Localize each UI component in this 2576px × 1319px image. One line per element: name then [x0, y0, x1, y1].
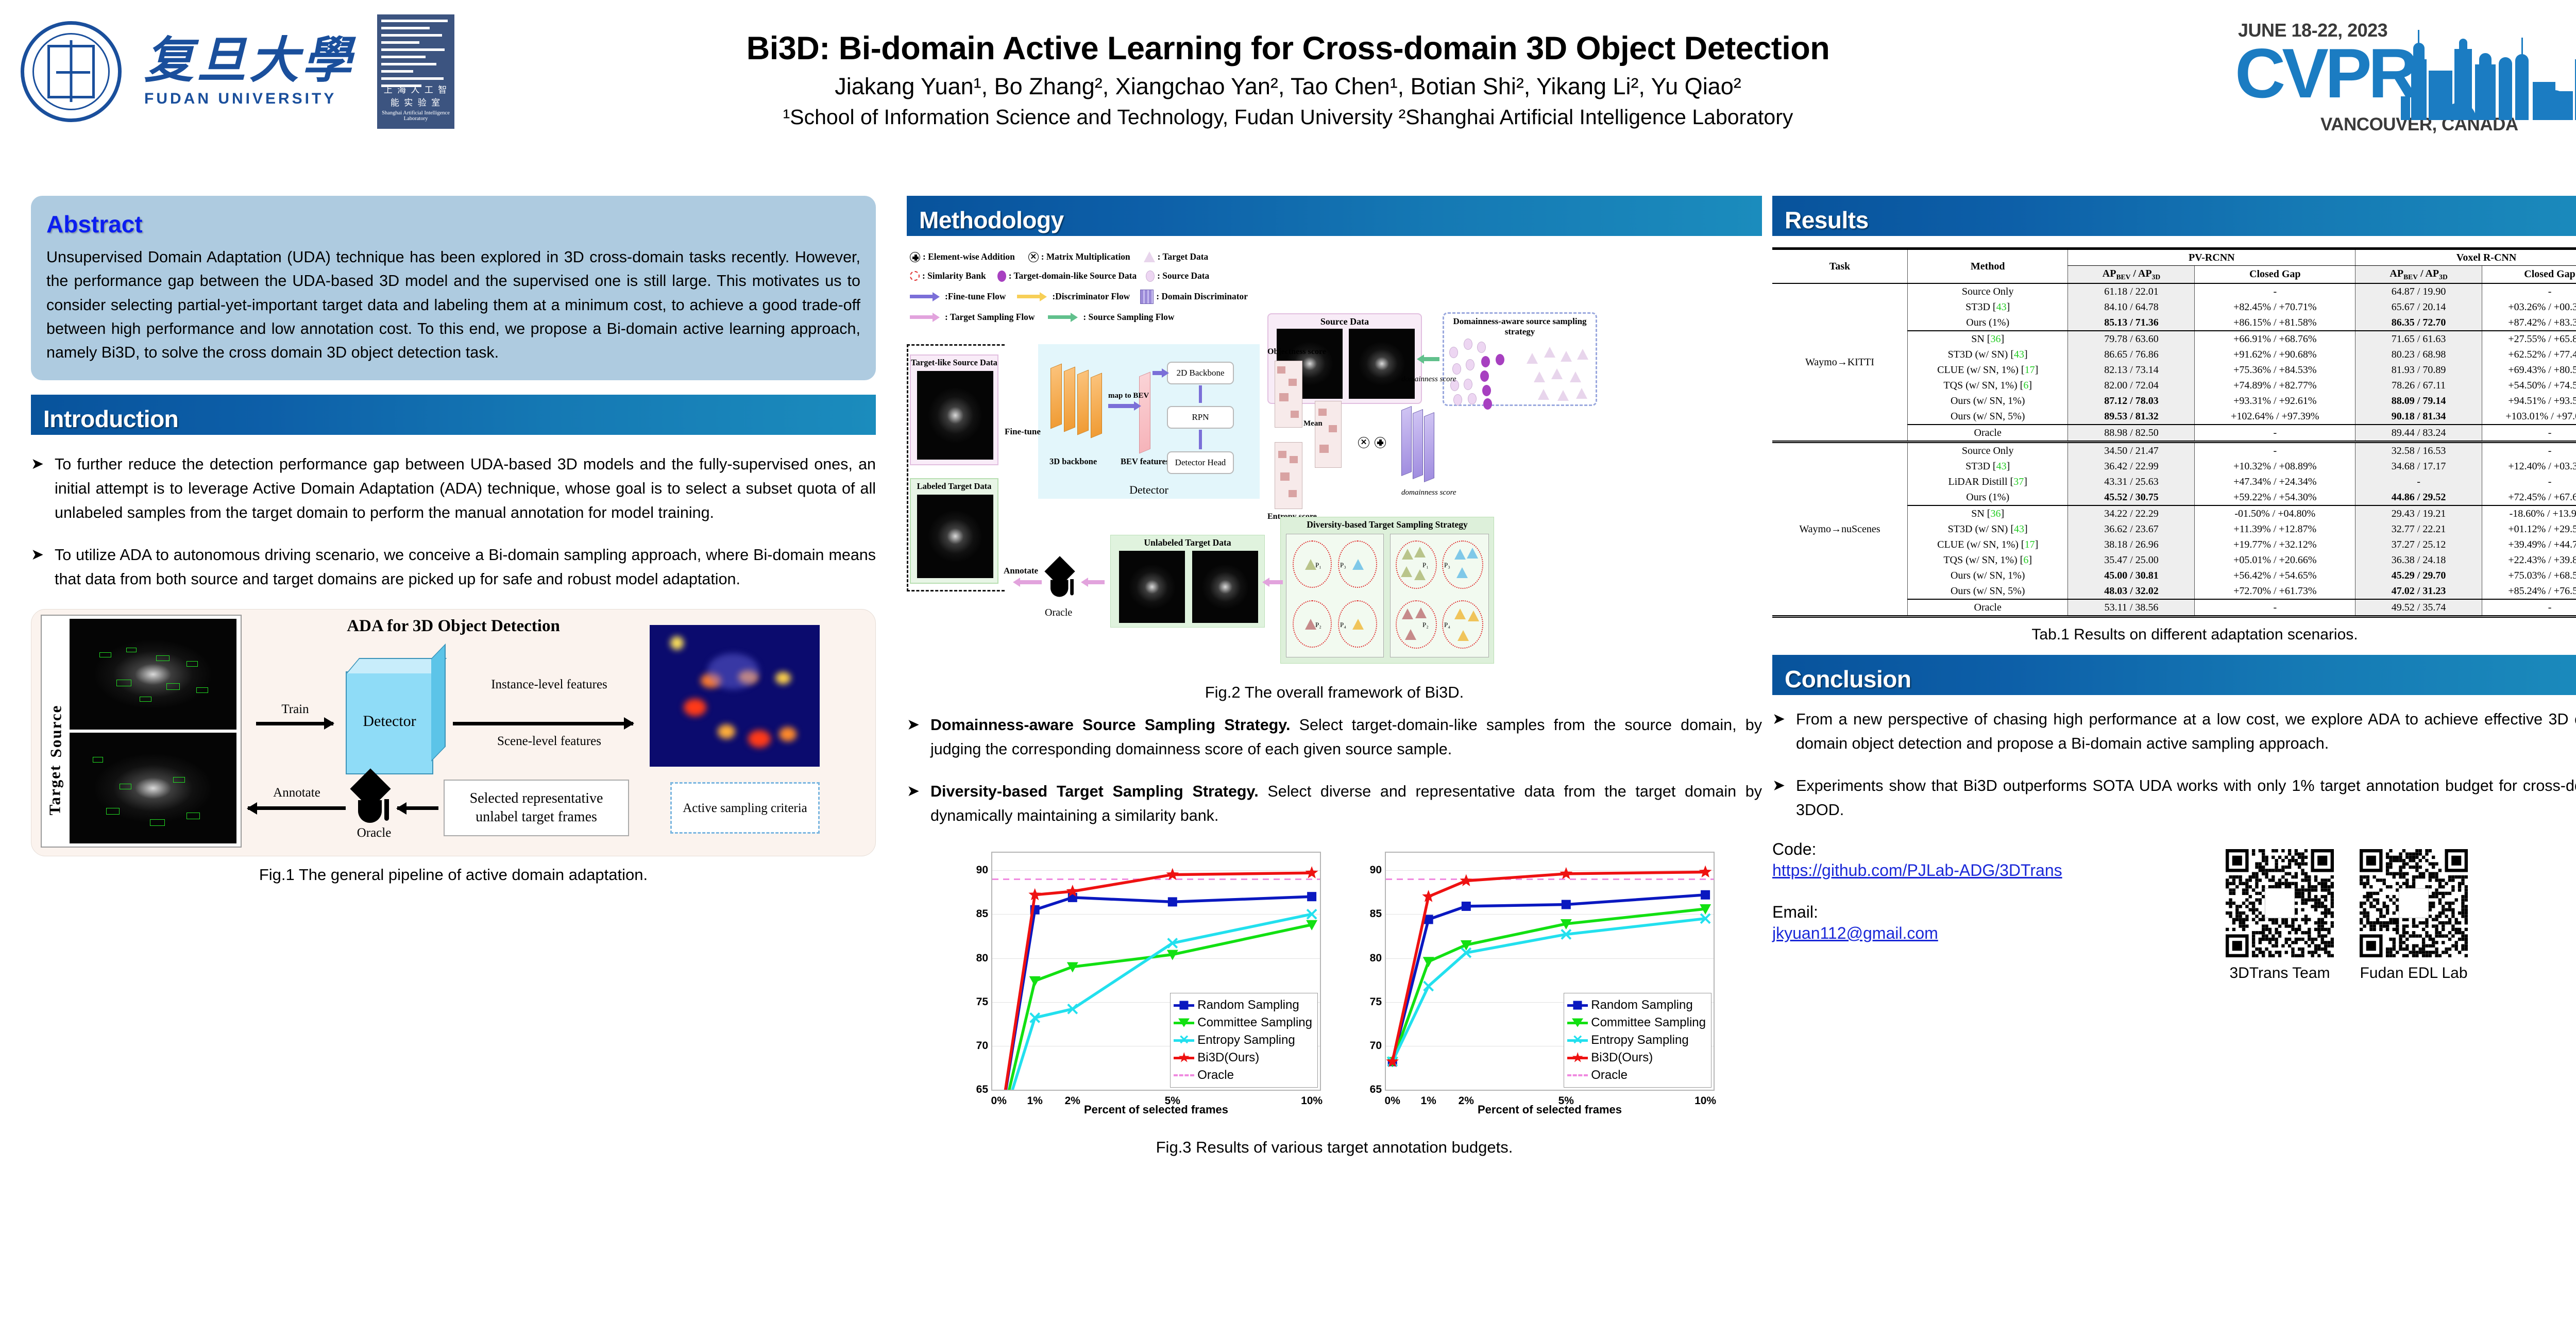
legend-item: Random Sampling	[1174, 996, 1312, 1014]
fig2-source-dots	[1448, 339, 1520, 404]
legend-label: Random Sampling	[1591, 998, 1692, 1012]
fig1-instance-label: Instance-level features	[485, 677, 614, 694]
td-vx-gap: +85.24% / +76.52%	[2482, 583, 2576, 599]
td-pv-gap: +91.62% / +90.68%	[2195, 347, 2355, 362]
column-middle: Methodology : Element-wise Addition ✕ : …	[907, 196, 1762, 1157]
introduction-header: Introduction	[31, 395, 876, 435]
fig1-selected-frames-box: Selected representative unlabel target f…	[444, 780, 629, 836]
table-row: Waymo→KITTISource Only61.18 / 22.01-64.8…	[1772, 283, 2576, 299]
td-pv-ap: 36.62 / 23.67	[2068, 521, 2195, 537]
td-vx-ap: 86.35 / 72.70	[2355, 315, 2482, 331]
fig2-objectness-scoremap	[1275, 361, 1302, 428]
source-sampling-flow-icon	[1048, 315, 1073, 319]
legend-swatch: ✕	[1567, 1039, 1588, 1042]
introduction-bullet-2: To utilize ADA to autonomous driving sce…	[55, 543, 876, 592]
introduction-heading: Introduction	[43, 405, 178, 433]
td-method: SN [36]	[1907, 505, 2068, 521]
poster-root: 复旦大學 FUDAN UNIVERSITY 上 海 人 工 智 能 实 验 室 …	[0, 0, 2576, 1319]
matrix-multiplication-icon: ✕	[1028, 252, 1039, 262]
legend-swatch: ★	[1567, 1057, 1588, 1059]
td-vx-ap: 32.58 / 16.53	[2355, 442, 2482, 459]
results-header: Results	[1772, 196, 2576, 236]
td-pv-ap: 61.18 / 22.01	[2068, 283, 2195, 299]
fig2-entropy-scoremap	[1275, 442, 1302, 509]
td-pv-gap: +102.64% / +97.39%	[2195, 409, 2355, 425]
legend-label-ssf: : Source Sampling Flow	[1083, 312, 1174, 323]
td-vx-gap: +01.12% / +29.57%	[2482, 521, 2576, 537]
fig1-detector-label: Detector	[341, 713, 438, 730]
td-pv-ap: 35.47 / 25.00	[2068, 552, 2195, 568]
y-tick-label: 90	[1370, 864, 1382, 876]
y-tick-label: 70	[976, 1040, 988, 1052]
td-pv-gap: -01.50% / +04.80%	[2195, 505, 2355, 521]
methodology-heading: Methodology	[919, 206, 1064, 234]
list-item: ➤ To further reduce the detection perfor…	[31, 452, 876, 526]
fig2-target-triangles	[1527, 340, 1596, 404]
conclusion-bullet-2: Experiments show that Bi3D outperforms S…	[1796, 774, 2576, 823]
discriminator-flow-icon	[1017, 295, 1042, 298]
column-right: Results TaskMethodPV-RCNNVoxel R-CNNAPBE…	[1772, 196, 2576, 1015]
td-pv-ap: 82.00 / 72.04	[2068, 378, 2195, 393]
td-vx-ap: 32.77 / 22.21	[2355, 521, 2482, 537]
td-vx-ap: 37.27 / 25.12	[2355, 537, 2482, 552]
fig1-oracle-label: Oracle	[341, 826, 408, 840]
td-method: Ours (w/ SN, 5%)	[1907, 583, 2068, 599]
fig2-domainness-score-label-2: domainness score	[1401, 488, 1456, 497]
td-pv-ap: 36.42 / 22.99	[2068, 459, 2195, 474]
results-table: TaskMethodPV-RCNNVoxel R-CNNAPBEV / AP3D…	[1772, 247, 2576, 618]
fig2-bev-features-icon	[1139, 372, 1150, 454]
td-pv-ap: 87.12 / 78.03	[2068, 393, 2195, 409]
legend-label-finetune: :Fine-tune Flow	[945, 291, 1006, 302]
element-wise-addition-icon	[910, 252, 920, 262]
legend-label: Random Sampling	[1197, 998, 1299, 1012]
td-pv-ap: 85.13 / 71.36	[2068, 315, 2195, 331]
fig3-caption: Fig.3 Results of various target annotati…	[907, 1138, 1762, 1157]
legend-item: ★Bi3D(Ours)	[1567, 1049, 1706, 1067]
data-point	[1462, 902, 1471, 911]
qr1-caption: 3DTrans Team	[2213, 965, 2347, 982]
fig2-tls-label: Target-like Source Data	[911, 358, 997, 368]
td-pv-gap: -	[2195, 283, 2355, 299]
td-pv-ap: 34.50 / 21.47	[2068, 442, 2195, 459]
chart-waymo-kitti: Waymo→KITTI APbev 7075808590650%1%2%5%10…	[947, 845, 1328, 1134]
td-pv-ap: 45.52 / 30.75	[2068, 489, 2195, 505]
code-url-link[interactable]: https://github.com/PJLab-ADG/3DTrans	[1772, 861, 2062, 880]
td-pv-gap: +05.01% / +20.66%	[2195, 552, 2355, 568]
figure-1: ADA for 3D Object Detection Source	[31, 609, 876, 856]
td-pv-gap: +82.45% / +70.71%	[2195, 299, 2355, 315]
fig1-features-arrow	[453, 722, 633, 725]
td-vx-gap: +62.52% / +77.49%	[2482, 347, 2576, 362]
td-vx-gap: -	[2482, 474, 2576, 489]
td-vx-ap: 89.44 / 83.24	[2355, 425, 2482, 442]
list-item: ➤ Diversity-based Target Sampling Strate…	[907, 780, 1762, 828]
cvpr-logo: JUNE 18-22, 2023 CVPR VANCOUVER, CANADA	[2166, 18, 2576, 136]
td-pv-gap: +74.89% / +82.77%	[2195, 378, 2355, 393]
td-method: TQS (w/ SN, 1%) [6]	[1907, 552, 2068, 568]
legend-label-disc: : Domain Discriminator	[1156, 291, 1248, 302]
legend-swatch	[1567, 1004, 1588, 1007]
domain-discriminator-icon	[1140, 290, 1154, 304]
td-method: Source Only	[1907, 283, 2068, 299]
qr-code-fudan-edl[interactable]	[2360, 849, 2468, 957]
td-method: ST3D (w/ SN) [43]	[1907, 347, 2068, 362]
method-bullet-2-bold: Diversity-based Target Sampling Strategy…	[930, 783, 1259, 800]
td-method: SN [36]	[1907, 331, 2068, 347]
fig2-utd-label: Unlabeled Target Data	[1111, 537, 1264, 548]
legend-item: ✕Entropy Sampling	[1567, 1031, 1706, 1049]
td-pv-ap: 34.22 / 22.29	[2068, 505, 2195, 521]
fig2-arrow-rpn-to-head	[1199, 430, 1202, 449]
chart2-plot-area: 7075808590650%1%2%5%10%Random SamplingCo…	[1385, 852, 1715, 1091]
legend-label-simbank: : Simlarity Bank	[922, 270, 986, 282]
legend-item: Oracle	[1174, 1067, 1312, 1084]
th-voxel: Voxel R-CNN	[2355, 249, 2576, 266]
bullet-arrow-icon: ➤	[31, 543, 55, 592]
td-pv-gap: +93.31% / +92.61%	[2195, 393, 2355, 409]
fig2-oracle-icon	[1049, 561, 1075, 596]
th-gap-pv: Closed Gap	[2195, 266, 2355, 284]
fig2-cluster-panel-1: P₁ P₃ P₂ P₄	[1286, 534, 1384, 657]
fig2-annotate-label: Annotate	[1004, 566, 1038, 576]
legend-swatch	[1174, 1022, 1194, 1024]
data-point	[1307, 892, 1316, 901]
source-data-icon	[1146, 270, 1155, 282]
td-vx-ap: 65.67 / 20.14	[2355, 299, 2482, 315]
fig2-cluster-panel-2: P₁ P₃ P₂ P₄	[1390, 534, 1489, 657]
td-pv-gap: -	[2195, 442, 2355, 459]
fig2-oracle-label: Oracle	[1045, 607, 1072, 619]
td-vx-ap: 71.65 / 61.63	[2355, 331, 2482, 347]
figure-2: : Element-wise Addition ✕ : Matrix Multi…	[907, 246, 1762, 674]
td-pv-gap: +56.42% / +54.65%	[2195, 568, 2355, 583]
td-vx-ap: 49.52 / 35.74	[2355, 599, 2482, 617]
legend-label-matmul: : Matrix Multiplication	[1041, 251, 1130, 263]
td-vx-ap: 45.29 / 29.70	[2355, 568, 2482, 583]
results-heading: Results	[1785, 206, 1869, 234]
cvpr-wordmark: CVPR	[2235, 38, 2415, 108]
list-item: ➤ Experiments show that Bi3D outperforms…	[1772, 774, 2576, 823]
contact-section: Code: https://github.com/PJLab-ADG/3DTra…	[1772, 840, 2576, 1015]
data-point	[1168, 897, 1177, 906]
table-caption: Tab.1 Results on different adaptation sc…	[1772, 626, 2576, 644]
legend-label: Bi3D(Ours)	[1197, 1051, 1259, 1065]
fig2-annotate-arrow	[1018, 580, 1042, 584]
td-method: Ours (w/ SN, 5%)	[1907, 409, 2068, 425]
td-vx-gap: +03.26% / +00.38%	[2482, 299, 2576, 315]
td-vx-gap: +72.45% / +67.63%	[2482, 489, 2576, 505]
td-pv-ap: 82.13 / 73.14	[2068, 362, 2195, 378]
introduction-bullet-1: To further reduce the detection performa…	[55, 452, 876, 526]
fig2-detector-head-box: Detector Head	[1167, 451, 1234, 474]
td-vx-gap: -	[2482, 442, 2576, 459]
td-vx-gap: +12.40% / +03.33%	[2482, 459, 2576, 474]
sail-chinese-name: 上 海 人 工 智 能 实 验 室	[377, 82, 454, 108]
data-point	[1699, 866, 1712, 878]
td-pv-gap: -	[2195, 599, 2355, 617]
list-item: ➤ To utilize ADA to autonomous driving s…	[31, 543, 876, 592]
legend-item: Committee Sampling	[1567, 1014, 1706, 1031]
fig2-3d-backbone-label: 3D backbone	[1049, 456, 1097, 467]
fudan-english-name: FUDAN UNIVERSITY	[144, 90, 354, 108]
legend-swatch: ★	[1174, 1057, 1194, 1059]
fig2-source-data-label: Source Data	[1268, 316, 1421, 327]
legend-label: Committee Sampling	[1197, 1016, 1312, 1030]
conclusion-bullets: ➤ From a new perspective of chasing high…	[1772, 707, 2576, 822]
author-list: Jiakang Yuan¹, Bo Zhang², Xiangchao Yan²…	[567, 73, 2009, 100]
fig1-sampling-criteria-box: Active sampling criteria	[670, 782, 820, 834]
fig2-bev-features-label: BEV features	[1121, 456, 1169, 467]
fig2-arrow-2d-to-rpn	[1199, 385, 1202, 403]
td-method: Ours (w/ SN, 1%)	[1907, 568, 2068, 583]
introduction-bullets: ➤ To further reduce the detection perfor…	[31, 452, 876, 591]
fig2-mean-scoremap	[1315, 401, 1342, 468]
data-point	[1701, 890, 1710, 900]
fig1-arrow-to-oracle	[397, 806, 438, 810]
th-task: Task	[1772, 249, 1907, 284]
chart-legend: Random SamplingCommittee Sampling✕Entrop…	[1564, 993, 1711, 1088]
email-link[interactable]: jkyuan112@gmail.com	[1772, 924, 1938, 943]
affiliation-list: ¹School of Information Science and Techn…	[567, 105, 2009, 129]
legend-swatch	[1174, 1004, 1194, 1007]
y-tick-label: 70	[1370, 1040, 1382, 1052]
institution-logos: 复旦大學 FUDAN UNIVERSITY 上 海 人 工 智 能 实 验 室 …	[21, 14, 454, 129]
title-block: Bi3D: Bi-domain Active Learning for Cros…	[567, 30, 2009, 129]
fig2-unlabeled-target-box: Unlabeled Target Data	[1110, 535, 1265, 628]
fig2-detector-panel: Detector 3D backbone BEV features map to…	[1038, 344, 1260, 499]
fig1-heatmap	[650, 625, 820, 767]
td-task: Waymo→nuScenes	[1772, 442, 1907, 617]
td-pv-gap: +75.36% / +84.53%	[2195, 362, 2355, 378]
fudan-chinese-name: 复旦大學	[144, 36, 354, 85]
fig2-addition-icon	[1375, 437, 1386, 448]
td-vx-gap: -	[2482, 599, 2576, 617]
fig2-domainness-label: Domainness-aware source sampling strateg…	[1444, 316, 1596, 336]
td-method: Source Only	[1907, 442, 2068, 459]
legend-swatch	[1567, 1074, 1588, 1076]
td-method: ST3D [43]	[1907, 459, 2068, 474]
legend-label: Oracle	[1591, 1068, 1628, 1083]
td-vx-ap: 90.18 / 81.34	[2355, 409, 2482, 425]
td-pv-gap: -	[2195, 425, 2355, 442]
list-item: ➤ Domainness-aware Source Sampling Strat…	[907, 713, 1762, 762]
fig1-scene-label: Scene-level features	[485, 733, 614, 750]
legend-label-tsf: : Target Sampling Flow	[945, 312, 1035, 323]
td-vx-ap: 29.43 / 19.21	[2355, 505, 2482, 521]
td-vx-ap: 80.23 / 68.98	[2355, 347, 2482, 362]
conclusion-header: Conclusion	[1772, 655, 2576, 695]
target-like-source-icon	[997, 270, 1006, 282]
bullet-arrow-icon: ➤	[1772, 707, 1796, 756]
fig2-diversity-label: Diversity-based Target Sampling Strategy	[1281, 519, 1494, 530]
qr-code-3dtrans[interactable]	[2226, 849, 2334, 957]
poster-header: 复旦大學 FUDAN UNIVERSITY 上 海 人 工 智 能 实 验 室 …	[0, 0, 2576, 185]
legend-label-discflow: :Discriminator Flow	[1052, 291, 1130, 302]
fig2-2d-backbone-box: 2D Backbone	[1167, 362, 1234, 384]
td-pv-gap: +10.32% / +08.89%	[2195, 459, 2355, 474]
fig2-matmul-icon: ✕	[1358, 437, 1369, 448]
legend-label-source-data: : Source Data	[1157, 270, 1209, 282]
td-vx-ap: 44.86 / 29.52	[2355, 489, 2482, 505]
data-point	[1560, 867, 1572, 880]
td-pv-gap: +59.22% / +54.30%	[2195, 489, 2355, 505]
td-pv-ap: 53.11 / 38.56	[2068, 599, 2195, 617]
td-pv-ap: 89.53 / 81.32	[2068, 409, 2195, 425]
td-vx-ap: 47.02 / 31.23	[2355, 583, 2482, 599]
fudan-seal-icon	[21, 21, 122, 122]
data-point	[1460, 874, 1472, 887]
td-pv-ap: 48.03 / 32.02	[2068, 583, 2195, 599]
td-vx-ap: 64.87 / 19.90	[2355, 283, 2482, 299]
td-pv-gap: +86.15% / +81.58%	[2195, 315, 2355, 331]
fig2-mean-label: Mean	[1303, 419, 1323, 428]
column-left: Abstract Unsupervised Domain Adaptation …	[31, 196, 876, 884]
td-vx-gap: +103.01% / +97.00%	[2482, 409, 2576, 425]
td-pv-ap: 86.65 / 76.86	[2068, 347, 2195, 362]
td-method: Ours (w/ SN, 1%)	[1907, 393, 2068, 409]
y-tick-label: 85	[1370, 908, 1382, 920]
fig1-target-label: Target	[41, 733, 69, 847]
td-pv-gap: +11.39% / +12.87%	[2195, 521, 2355, 537]
sail-english-name: Shanghai Artificial Intelligence Laborat…	[377, 110, 454, 122]
fig1-oracle-icon	[356, 774, 390, 822]
td-pv-ap: 38.18 / 26.96	[2068, 537, 2195, 552]
fig2-target-sampling-arrow-1	[1267, 580, 1283, 584]
td-method: Oracle	[1907, 425, 2068, 442]
legend-label: Bi3D(Ours)	[1591, 1051, 1653, 1065]
td-vx-gap: +69.43% / +80.50%	[2482, 362, 2576, 378]
fig2-3d-backbone-icon	[1050, 359, 1107, 451]
conclusion-heading: Conclusion	[1785, 665, 1911, 693]
chart1-xlabel: Percent of selected frames	[991, 1103, 1321, 1117]
fig1-lidar-images	[70, 616, 241, 847]
td-vx-gap: +75.03% / +68.56%	[2482, 568, 2576, 583]
td-vx-ap: 88.09 / 79.14	[2355, 393, 2482, 409]
chart-legend: Random SamplingCommittee Sampling✕Entrop…	[1170, 993, 1318, 1088]
td-vx-gap: +27.55% / +65.88%	[2482, 331, 2576, 347]
fig2-target-sampling-arrow-2	[1086, 580, 1105, 584]
fine-tune-flow-icon	[910, 295, 935, 298]
fig2-finetune-label: Fine-tune	[1005, 427, 1041, 437]
chart1-plot-area: 7075808590650%1%2%5%10%Random SamplingCo…	[991, 852, 1321, 1091]
data-point	[1029, 976, 1041, 987]
fig2-arrow-to-2dbackbone	[1153, 371, 1164, 375]
target-data-icon	[1144, 251, 1155, 262]
fig2-map-to-bev-label: map to BEV	[1108, 392, 1149, 400]
td-vx-ap: 78.26 / 67.11	[2355, 378, 2482, 393]
y-tick-label: 85	[976, 908, 988, 920]
y-tick-label: 75	[976, 996, 988, 1008]
td-pv-ap: 45.00 / 30.81	[2068, 568, 2195, 583]
td-pv-ap: 79.78 / 63.60	[2068, 331, 2195, 347]
method-bullet-1-bold: Domainness-aware Source Sampling Strateg…	[930, 716, 1290, 734]
td-task: Waymo→KITTI	[1772, 283, 1907, 442]
legend-swatch	[1567, 1022, 1588, 1024]
fig2-labeled-target-box: Labeled Target Data	[910, 478, 998, 584]
th-ap-vx: APBEV / AP3D	[2355, 266, 2482, 284]
bullet-arrow-icon: ➤	[907, 780, 930, 828]
td-vx-gap: +54.50% / +74.53%	[2482, 378, 2576, 393]
legend-label-target-data: : Target Data	[1158, 251, 1209, 263]
td-method: ST3D [43]	[1907, 299, 2068, 315]
legend-item: Oracle	[1567, 1067, 1706, 1084]
td-vx-gap: +94.51% / +93.53%	[2482, 393, 2576, 409]
fig2-caption: Fig.2 The overall framework of Bi3D.	[907, 683, 1762, 702]
legend-item: Committee Sampling	[1174, 1014, 1312, 1031]
qr2-caption: Fudan EDL Lab	[2347, 965, 2481, 982]
th-method: Method	[1907, 249, 2068, 284]
data-point	[1306, 866, 1318, 878]
fig2-finetune-arrow-1	[1108, 404, 1136, 408]
abstract-heading: Abstract	[46, 210, 860, 238]
td-vx-gap: +22.43% / +39.82%	[2482, 552, 2576, 568]
td-method: Ours (1%)	[1907, 489, 2068, 505]
td-method: CLUE (w/ SN, 1%) [17]	[1907, 537, 2068, 552]
fig1-caption: Fig.1 The general pipeline of active dom…	[31, 866, 876, 884]
lidar-scan-target	[70, 733, 236, 843]
y-tick-label: 80	[976, 952, 988, 965]
th-gap-vx: Closed Gap	[2482, 266, 2576, 284]
td-vx-gap: -	[2482, 283, 2576, 299]
fig1-source-target-panel: Source	[41, 615, 242, 848]
fig1-train-label: Train	[264, 702, 326, 717]
lidar-scan-source	[70, 619, 236, 730]
legend-swatch: ✕	[1174, 1039, 1194, 1042]
fig1-train-arrow	[256, 722, 333, 725]
methodology-header: Methodology	[907, 196, 1762, 236]
data-point	[1562, 900, 1571, 909]
data-point	[1166, 868, 1179, 881]
target-sampling-flow-icon	[910, 315, 935, 319]
bullet-arrow-icon: ➤	[907, 713, 930, 762]
td-pv-gap: +19.77% / +32.12%	[2195, 537, 2355, 552]
td-vx-ap: 34.68 / 17.17	[2355, 459, 2482, 474]
fig1-annotate-arrow	[248, 806, 346, 810]
fig2-rpn-box: RPN	[1167, 406, 1234, 429]
conclusion-bullet-1: From a new perspective of chasing high p…	[1796, 707, 2576, 756]
legend-label-tls: : Target-domain-like Source Data	[1009, 270, 1137, 282]
chart-nuscenes-kitti: nuScenes→KITTI APbev 7075808590650%1%2%5…	[1341, 845, 1722, 1134]
td-method: Ours (1%)	[1907, 315, 2068, 331]
fig2-domain-discriminator-icon	[1401, 401, 1448, 478]
similarity-bank-icon	[910, 271, 920, 281]
bullet-arrow-icon: ➤	[31, 452, 55, 526]
legend-label: Entropy Sampling	[1591, 1033, 1688, 1047]
fig2-legend: : Element-wise Addition ✕ : Matrix Multi…	[910, 251, 1265, 331]
fig2-diversity-strategy-box: Diversity-based Target Sampling Strategy…	[1280, 517, 1494, 664]
td-method: TQS (w/ SN, 1%) [6]	[1907, 378, 2068, 393]
td-pv-gap: +66.91% / +68.76%	[2195, 331, 2355, 347]
td-vx-gap: -	[2482, 425, 2576, 442]
y-tick-label: 80	[1370, 952, 1382, 965]
fudan-wordmark: 复旦大學 FUDAN UNIVERSITY	[144, 36, 354, 108]
td-pv-ap: 43.31 / 25.63	[2068, 474, 2195, 489]
abstract-section: Abstract Unsupervised Domain Adaptation …	[31, 196, 876, 380]
legend-label-addition: : Element-wise Addition	[923, 251, 1015, 263]
page-title: Bi3D: Bi-domain Active Learning for Cros…	[567, 30, 2009, 67]
td-method: Oracle	[1907, 599, 2068, 617]
fig2-domainness-score-label-1: domainness score	[1401, 375, 1456, 384]
abstract-text: Unsupervised Domain Adaptation (UDA) tec…	[46, 245, 860, 365]
td-vx-gap: -18.60% / +13.95%	[2482, 505, 2576, 521]
y-tick-label: 90	[976, 864, 988, 876]
td-pv-ap: 84.10 / 64.78	[2068, 299, 2195, 315]
td-method: CLUE (w/ SN, 1%) [17]	[1907, 362, 2068, 378]
fig2-source-sampling-arrow	[1422, 357, 1439, 361]
vancouver-skyline-icon	[2398, 30, 2576, 120]
fig2-domainness-strategy-box: Domainness-aware source sampling strateg…	[1443, 312, 1597, 406]
